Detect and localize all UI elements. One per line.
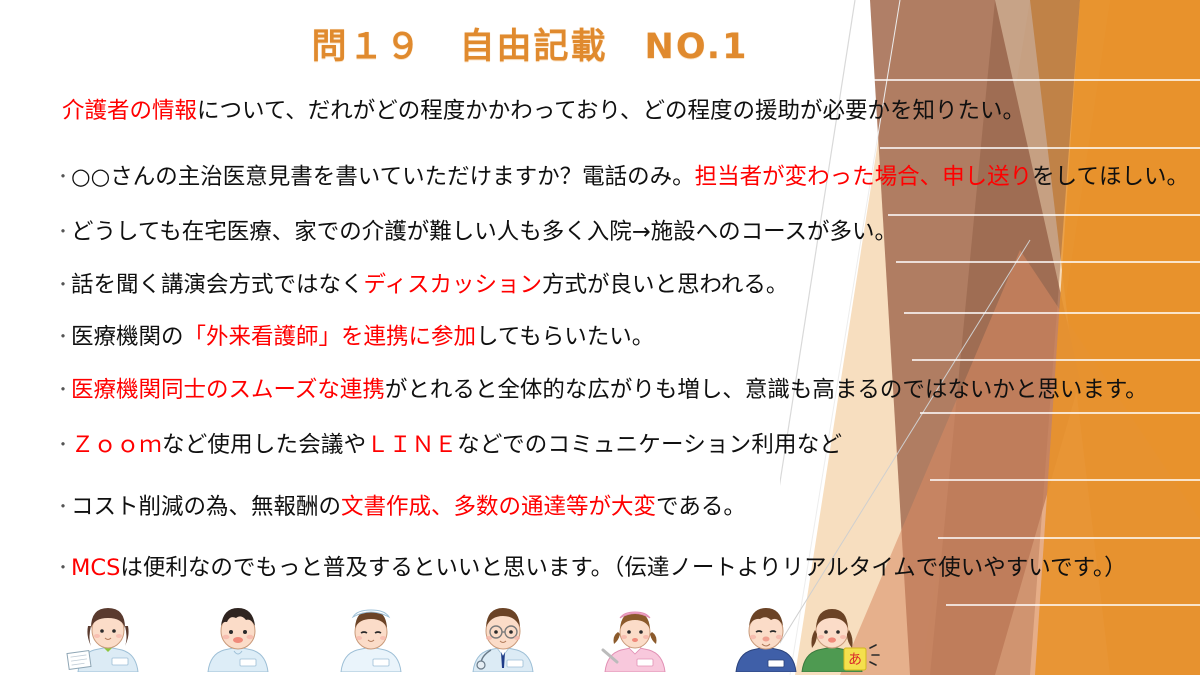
text-segment: どうしても在宅医療、家での介護が難しい人も多く入院→施設へのコースが多い。 [71, 219, 897, 245]
text-segment-highlighted: ＬＩＮＥ [366, 432, 457, 458]
body-line-6: ・医療機関同士のスムーズな連携がとれると全体的な広がりも増し、意識も高まるのでは… [55, 376, 1148, 404]
text-segment: ○○さんの主治医意見書を書いていただけますか？電話のみ。 [71, 164, 695, 190]
svg-text:あ: あ [848, 652, 862, 668]
line-bullet: ・ [55, 327, 71, 346]
line-bullet: ・ [55, 222, 71, 241]
text-segment-highlighted: Ｚｏｏｍ [71, 432, 162, 458]
line-bullet: ・ [55, 435, 71, 454]
nurse-with-cap-icon [323, 604, 419, 672]
text-segment-highlighted: MCS [71, 555, 120, 581]
body-line-4: ・話を聞く講演会方式ではなくディスカッション方式が良いと思われる。 [55, 271, 788, 299]
text-segment: について、だれがどの程度かかわっており、どの程度の援助が必要かを知りたい。 [197, 98, 1025, 124]
body-text-block: 介護者の情報について、だれがどの程度かかわっており、どの程度の援助が必要かを知り… [0, 0, 1200, 675]
text-segment: など使用した会議や [162, 432, 366, 458]
text-segment-highlighted: 文書作成、多数の通達等が大変 [341, 494, 656, 520]
text-segment: である。 [656, 494, 746, 520]
pink-nurse-with-thermometer-icon [587, 604, 683, 672]
line-bullet: ・ [55, 380, 71, 399]
text-segment: などでのコミュニケーション利用など [457, 432, 842, 458]
text-segment: がとれると全体的な広がりも増し、意識も高まるのではないかと思います。 [385, 377, 1148, 403]
text-segment: をしてほしい。 [1032, 164, 1189, 190]
body-line-1: 介護者の情報について、だれがどの程度かかわっており、どの程度の援助が必要かを知り… [62, 97, 1025, 125]
text-segment-highlighted: 介護者の情報 [62, 98, 197, 124]
line-bullet: ・ [55, 167, 71, 186]
text-segment-highlighted: 「外来看護師」を連携に参加 [184, 324, 477, 350]
text-segment-highlighted: 医療機関同士のスムーズな連携 [71, 377, 385, 403]
text-segment: してもらいたい。 [476, 324, 654, 350]
male-doctor-with-stethoscope-figure [455, 604, 551, 672]
text-segment-highlighted: ディスカッション [364, 272, 542, 298]
text-segment-highlighted: 担当者が変わった場合、申し送り [695, 164, 1033, 190]
text-segment: コスト削減の為、無報酬の [71, 494, 341, 520]
nurse-with-cap-figure [323, 604, 419, 672]
green-woman-with-card-figure: あ [788, 604, 884, 672]
line-bullet: ・ [55, 275, 71, 294]
male-patient-figure [190, 604, 286, 672]
body-line-8: ・コスト削減の為、無報酬の文書作成、多数の通達等が大変である。 [55, 493, 746, 521]
female-doctor-with-document-figure [60, 604, 156, 672]
line-bullet: ・ [55, 497, 71, 516]
text-segment: 医療機関の [71, 324, 184, 350]
female-doctor-with-document-icon [60, 604, 156, 672]
pink-nurse-with-thermometer-figure [587, 604, 683, 672]
people-illustration-row: あ [60, 604, 880, 672]
text-segment: は便利なのでもっと普及するといいと思います。（伝達ノートよりリアルタイムで使いや… [120, 555, 1126, 581]
body-line-9: ・MCSは便利なのでもっと普及するといいと思います。（伝達ノートよりリアルタイム… [55, 554, 1127, 582]
body-line-5: ・医療機関の「外来看護師」を連携に参加してもらいたい。 [55, 323, 654, 351]
body-line-7: ・Ｚｏｏｍなど使用した会議やＬＩＮＥなどでのコミュニケーション利用など [55, 431, 842, 459]
slide-canvas: 問１９ 自由記載 NO.1 介護者の情報について、だれがどの程度かかわっており、… [0, 0, 1200, 675]
male-patient-icon [190, 604, 286, 672]
text-segment: 方式が良いと思われる。 [542, 272, 788, 298]
green-woman-with-card-icon: あ [788, 604, 884, 672]
line-bullet: ・ [55, 558, 71, 577]
body-line-2: ・○○さんの主治医意見書を書いていただけますか？電話のみ。担当者が変わった場合、… [55, 163, 1189, 191]
body-line-3: ・どうしても在宅医療、家での介護が難しい人も多く入院→施設へのコースが多い。 [55, 218, 897, 246]
male-doctor-with-stethoscope-icon [455, 604, 551, 672]
text-segment: 話を聞く講演会方式ではなく [71, 272, 364, 298]
